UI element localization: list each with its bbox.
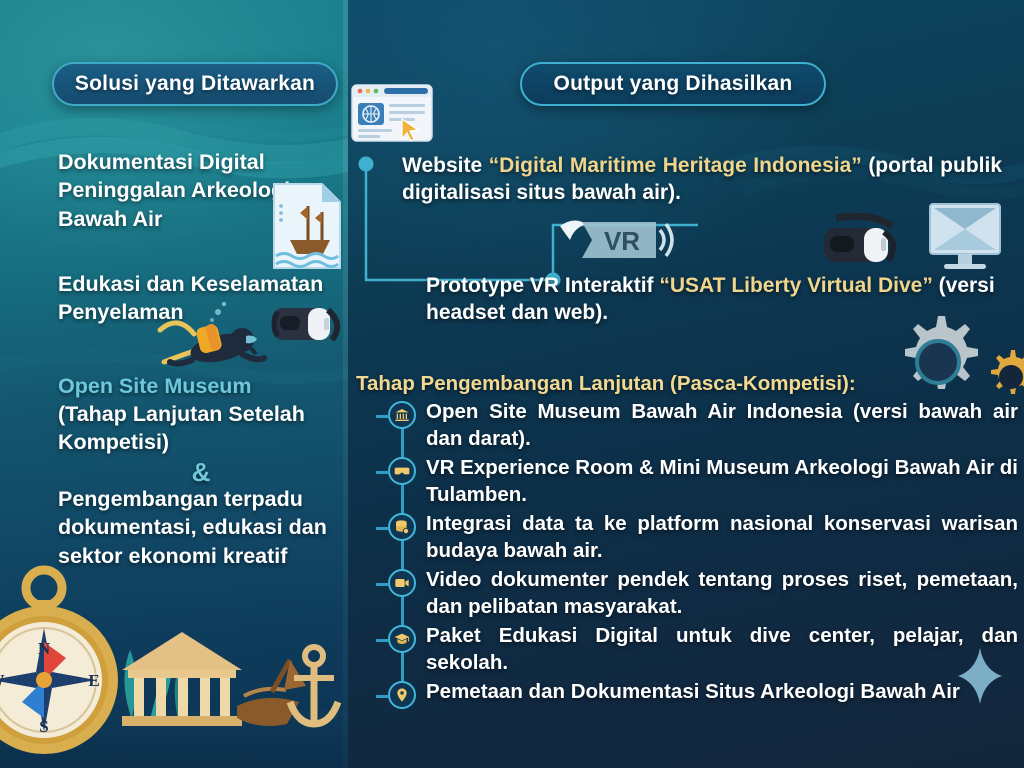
timeline-item[interactable]: Paket Edukasi Digital untuk dive center,… (388, 622, 1022, 676)
svg-text:VR: VR (604, 226, 640, 256)
timeline-item-label: Pemetaan dan Dokumentasi Situs Arkeologi… (426, 678, 1022, 705)
browser-window-icon (350, 83, 434, 143)
timeline-item-label: Paket Edukasi Digital untuk dive center,… (426, 622, 1022, 676)
timeline-item-label: Open Site Museum Bawah Air Indonesia (ve… (426, 398, 1022, 452)
timeline-item[interactable]: Video dokumenter pendek tentang proses r… (388, 566, 1022, 620)
database-icon (388, 513, 416, 541)
timeline-item[interactable]: Open Site Museum Bawah Air Indonesia (ve… (388, 398, 1022, 452)
graduation-cap-icon (388, 625, 416, 653)
right-header-label: Output yang Dihasilkan (554, 72, 793, 96)
vr-headset-icon (388, 457, 416, 485)
map-pin-icon (388, 681, 416, 709)
right-header-pill: Output yang Dihasilkan (520, 62, 826, 106)
bottom-scene-illustration: N E W S (0, 520, 348, 768)
output-website-text: Website “Digital Maritime Heritage Indon… (402, 152, 1002, 207)
timeline-item-label: Integrasi data ta ke platform nasional k… (426, 510, 1022, 564)
timeline-item[interactable]: Integrasi data ta ke platform nasional k… (388, 510, 1022, 564)
vr-headset-photo-icon (818, 210, 918, 272)
scuba-diver-icon (150, 300, 280, 382)
stage-title: Tahap Pengembangan Lanjutan (Pasca-Kompe… (356, 372, 916, 396)
document-shipwreck-icon (268, 180, 346, 272)
museum-building-icon (388, 401, 416, 429)
timeline-item[interactable]: VR Experience Room & Mini Museum Arkeolo… (388, 454, 1022, 508)
output-vr-prefix: Prototype VR Interaktif (426, 274, 659, 297)
vr-headset-icon (268, 296, 348, 352)
output-website-highlight: “Digital Maritime Heritage Indonesia” (489, 154, 862, 177)
svg-text:W: W (0, 671, 5, 690)
right-panel: Output yang Dihasilkan Website “Digital (348, 0, 1024, 768)
output-vr-highlight: “USAT Liberty Virtual Dive” (659, 274, 932, 297)
vr-tag-icon: VR (548, 212, 678, 268)
svg-text:E: E (88, 671, 99, 690)
video-camera-icon (388, 569, 416, 597)
output-website-prefix: Website (402, 154, 489, 177)
timeline-item-label: Video dokumenter pendek tentang proses r… (426, 566, 1022, 620)
development-timeline: Open Site Museum Bawah Air Indonesia (ve… (388, 398, 1022, 711)
infographic-slide: Solusi yang Ditawarkan Dokumentasi Digit… (0, 0, 1024, 768)
left-header-pill: Solusi yang Ditawarkan (52, 62, 338, 106)
left-header-label: Solusi yang Ditawarkan (75, 72, 315, 96)
gear-icon (888, 312, 988, 412)
left-panel: Solusi yang Ditawarkan Dokumentasi Digit… (0, 0, 348, 768)
svg-text:S: S (39, 717, 48, 736)
monitor-icon (926, 202, 1004, 274)
timeline-item-label: VR Experience Room & Mini Museum Arkeolo… (426, 454, 1022, 508)
svg-text:N: N (38, 639, 51, 658)
solution-item-open-site-museum-subtitle: (Tahap Lanjutan Setelah Kompetisi) (58, 400, 344, 457)
timeline-item[interactable]: Pemetaan dan Dokumentasi Situs Arkeologi… (388, 678, 1022, 709)
